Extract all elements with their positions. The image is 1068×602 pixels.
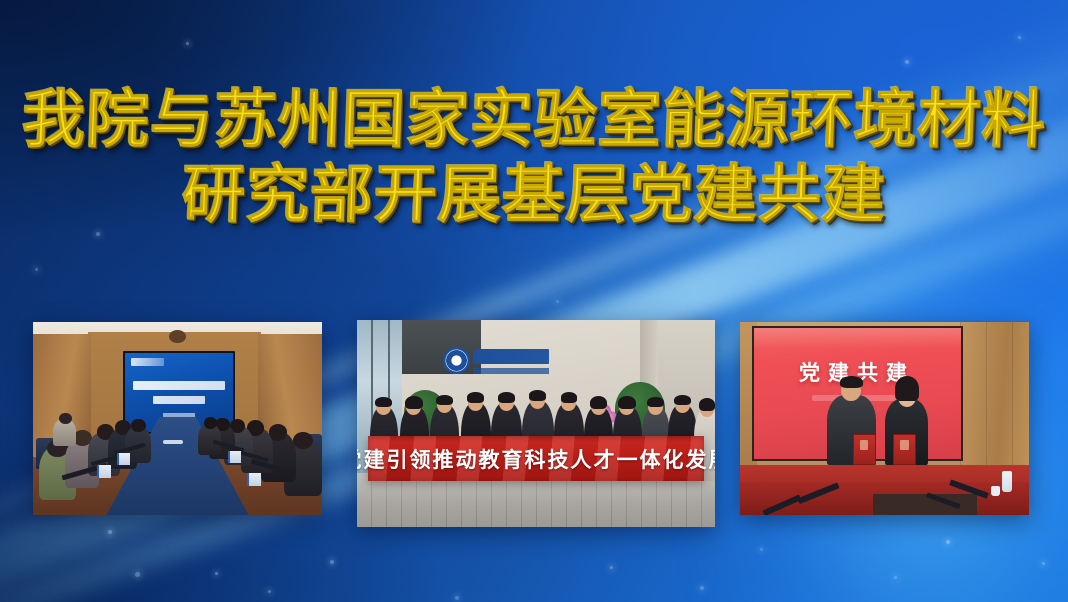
title-line-1: 我院与苏州国家实验室能源环境材料	[0, 84, 1068, 154]
meeting-room-photo[interactable]	[33, 322, 322, 515]
signing-ceremony-photo[interactable]: 党建共建	[740, 322, 1029, 515]
table-item	[163, 440, 183, 444]
meeting-room-scene	[33, 322, 322, 515]
agreement-folder-right	[893, 434, 916, 465]
agreement-folder-left	[853, 434, 876, 465]
lobby-scene: 党建引领推动教育科技人才一体化发展	[357, 320, 715, 527]
banner-text: 党建引领推动教育科技人才一体化发展	[357, 444, 715, 474]
wall-sign-english	[473, 368, 548, 374]
title-line-2: 研究部开展基层党建共建	[0, 159, 1068, 229]
screen-text-line-3	[163, 413, 196, 417]
wall-sign-chinese	[473, 349, 548, 365]
signing-hall-scene: 党建共建	[740, 322, 1029, 515]
water-cup	[991, 486, 1000, 496]
poster-canvas: 我院与苏州国家实验室能源环境材料 研究部开展基层党建共建	[0, 0, 1068, 602]
screen-text-line-2	[153, 396, 205, 404]
screen-logo	[131, 358, 164, 365]
poster-title: 我院与苏州国家实验室能源环境材料 研究部开展基层党建共建	[0, 84, 1068, 229]
laboratory-emblem-icon	[443, 347, 470, 374]
group-photo[interactable]: 党建引领推动教育科技人才一体化发展	[357, 320, 715, 527]
screen-text-line-1	[133, 381, 224, 390]
water-bottle	[1002, 471, 1012, 492]
red-banner: 党建引领推动教育科技人才一体化发展	[368, 436, 705, 482]
